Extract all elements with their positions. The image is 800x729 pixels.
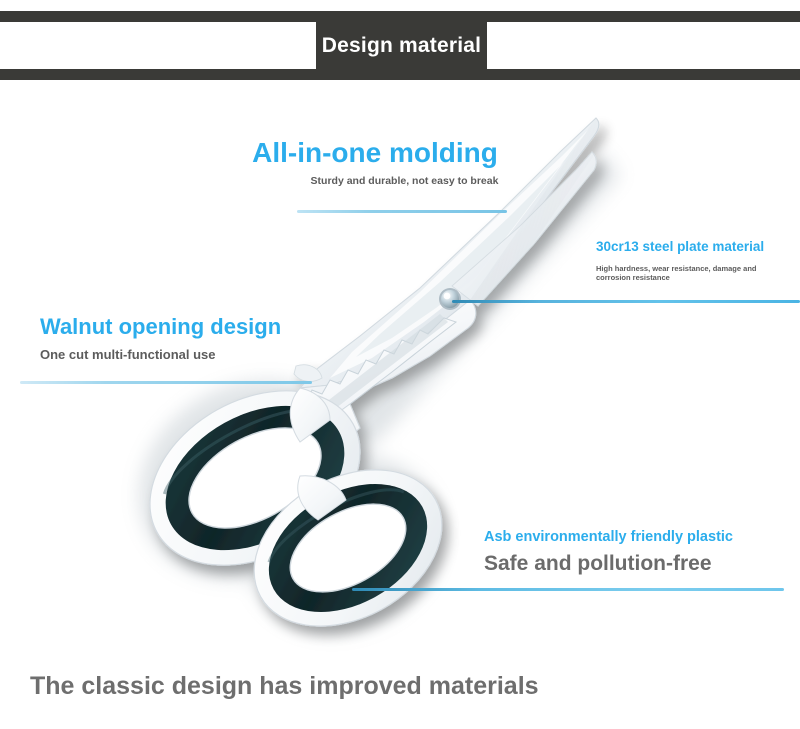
annotation-walnut-sub: One cut multi-functional use (40, 347, 340, 363)
footer-caption: The classic design has improved material… (30, 672, 539, 701)
annotation-asb: Asb environmentally friendly plastic Saf… (484, 530, 794, 577)
annotation-molding-heading: All-in-one molding (225, 138, 525, 169)
header-panel-right (487, 22, 800, 69)
annotation-steel: 30cr13 steel plate material High hardnes… (596, 240, 800, 283)
product-image (0, 0, 800, 729)
leader-line-asb (352, 588, 784, 591)
infographic-page: Design material (0, 0, 800, 729)
header-panel-left (0, 22, 316, 69)
leader-line-walnut (20, 381, 312, 384)
pivot-screw (439, 288, 461, 310)
annotation-molding: All-in-one molding Sturdy and durable, n… (225, 138, 525, 188)
annotation-molding-sub: Sturdy and durable, not easy to break (297, 175, 512, 188)
handle-loop-front (119, 355, 391, 600)
annotation-walnut: Walnut opening design One cut multi-func… (40, 315, 340, 363)
leader-line-molding (297, 210, 507, 213)
annotation-asb-heading: Asb environmentally friendly plastic (484, 530, 794, 546)
rear-arm (290, 404, 360, 476)
page-title: Design material (316, 11, 487, 80)
annotation-walnut-heading: Walnut opening design (40, 315, 340, 339)
leader-line-steel (452, 300, 800, 303)
annotation-steel-sub: High hardness, wear resistance, damage a… (596, 264, 792, 283)
annotation-steel-heading: 30cr13 steel plate material (596, 240, 800, 255)
annotation-asb-sub: Safe and pollution-free (484, 551, 794, 577)
handle-loop-rear (227, 438, 470, 657)
